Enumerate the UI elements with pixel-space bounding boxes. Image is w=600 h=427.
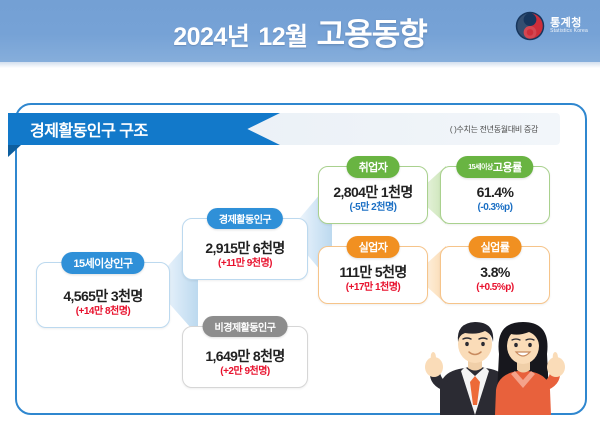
section-banner-label: 경제활동인구 구조 <box>8 117 148 141</box>
node-unemployed[interactable]: 실업자 111만 5천명 (+17만 1천명) <box>318 246 428 304</box>
node-economically-active[interactable]: 경제활동인구 2,915만 6천명 (+11만 9천명) <box>182 218 308 280</box>
illustration-two-people-thumbs-up <box>407 310 582 415</box>
node-employment-rate-value: 61.4% <box>477 185 514 200</box>
node-employment-rate-label-prefix: 15세이상 <box>468 164 493 171</box>
node-employed[interactable]: 취업자 2,804만 1천명 (-5만 2천명) <box>318 166 428 224</box>
node-unemployment-rate-label: 실업률 <box>469 236 522 258</box>
node-not-economically-active-value: 1,649만 8천명 <box>205 349 284 364</box>
page-header: 2024년 12월 고용동향 <box>0 0 600 62</box>
node-unemployment-rate-value: 3.8% <box>480 265 510 280</box>
node-population[interactable]: 15세이상인구 4,565만 3천명 (+14만 8천명) <box>36 262 170 328</box>
node-economically-active-label: 경제활동인구 <box>207 208 283 229</box>
node-employment-rate-label-main: 고용률 <box>493 162 522 174</box>
logo-text: 통계청 Statistics Korea <box>550 18 588 35</box>
infographic-page: 2024년 12월 고용동향 통계청 Statistics Korea ( )수… <box>0 0 600 427</box>
node-unemployment-rate-delta: (+0.5%p) <box>476 282 513 294</box>
node-unemployment-rate[interactable]: 실업률 3.8% (+0.5%p) <box>440 246 550 304</box>
node-not-economically-active-delta: (+2만 9천명) <box>220 366 270 378</box>
node-employed-label: 취업자 <box>347 156 400 178</box>
node-not-economically-active-label: 비경제활동인구 <box>203 316 288 337</box>
banner-note: ( )수치는 전년동월대비 증감 <box>450 124 560 135</box>
node-not-economically-active[interactable]: 비경제활동인구 1,649만 8천명 (+2만 9천명) <box>182 326 308 388</box>
node-population-delta: (+14만 8천명) <box>76 306 131 318</box>
node-unemployed-value: 111만 5천명 <box>339 265 406 280</box>
node-economically-active-delta: (+11만 9천명) <box>218 258 272 270</box>
logo-name-english: Statistics Korea <box>550 29 588 34</box>
businesswoman-thumbs-up <box>495 322 565 415</box>
section-banner: 경제활동인구 구조 <box>8 113 280 145</box>
node-employed-value: 2,804만 1천명 <box>333 185 412 200</box>
node-unemployed-delta: (+17만 1천명) <box>346 282 401 294</box>
node-economically-active-value: 2,915만 6천명 <box>205 241 284 256</box>
title-main: 고용동향 <box>317 9 427 54</box>
node-population-value: 4,565만 3천명 <box>63 289 142 304</box>
node-unemployed-label: 실업자 <box>347 236 400 258</box>
page-title: 2024년 12월 고용동향 <box>173 9 427 54</box>
node-population-label: 15세이상인구 <box>61 252 144 274</box>
node-employed-delta: (-5만 2천명) <box>349 202 396 214</box>
node-employment-rate-delta: (-0.3%p) <box>478 202 513 214</box>
header-shadow <box>0 62 600 68</box>
node-employment-rate-label: 15세이상고용률 <box>456 156 533 178</box>
statistics-korea-logo: 통계청 Statistics Korea <box>515 11 588 41</box>
node-employment-rate[interactable]: 15세이상고용률 61.4% (-0.3%p) <box>440 166 550 224</box>
title-month: 12월 <box>258 17 307 53</box>
title-year: 2024년 <box>173 17 249 53</box>
taegeuk-icon <box>515 11 545 41</box>
